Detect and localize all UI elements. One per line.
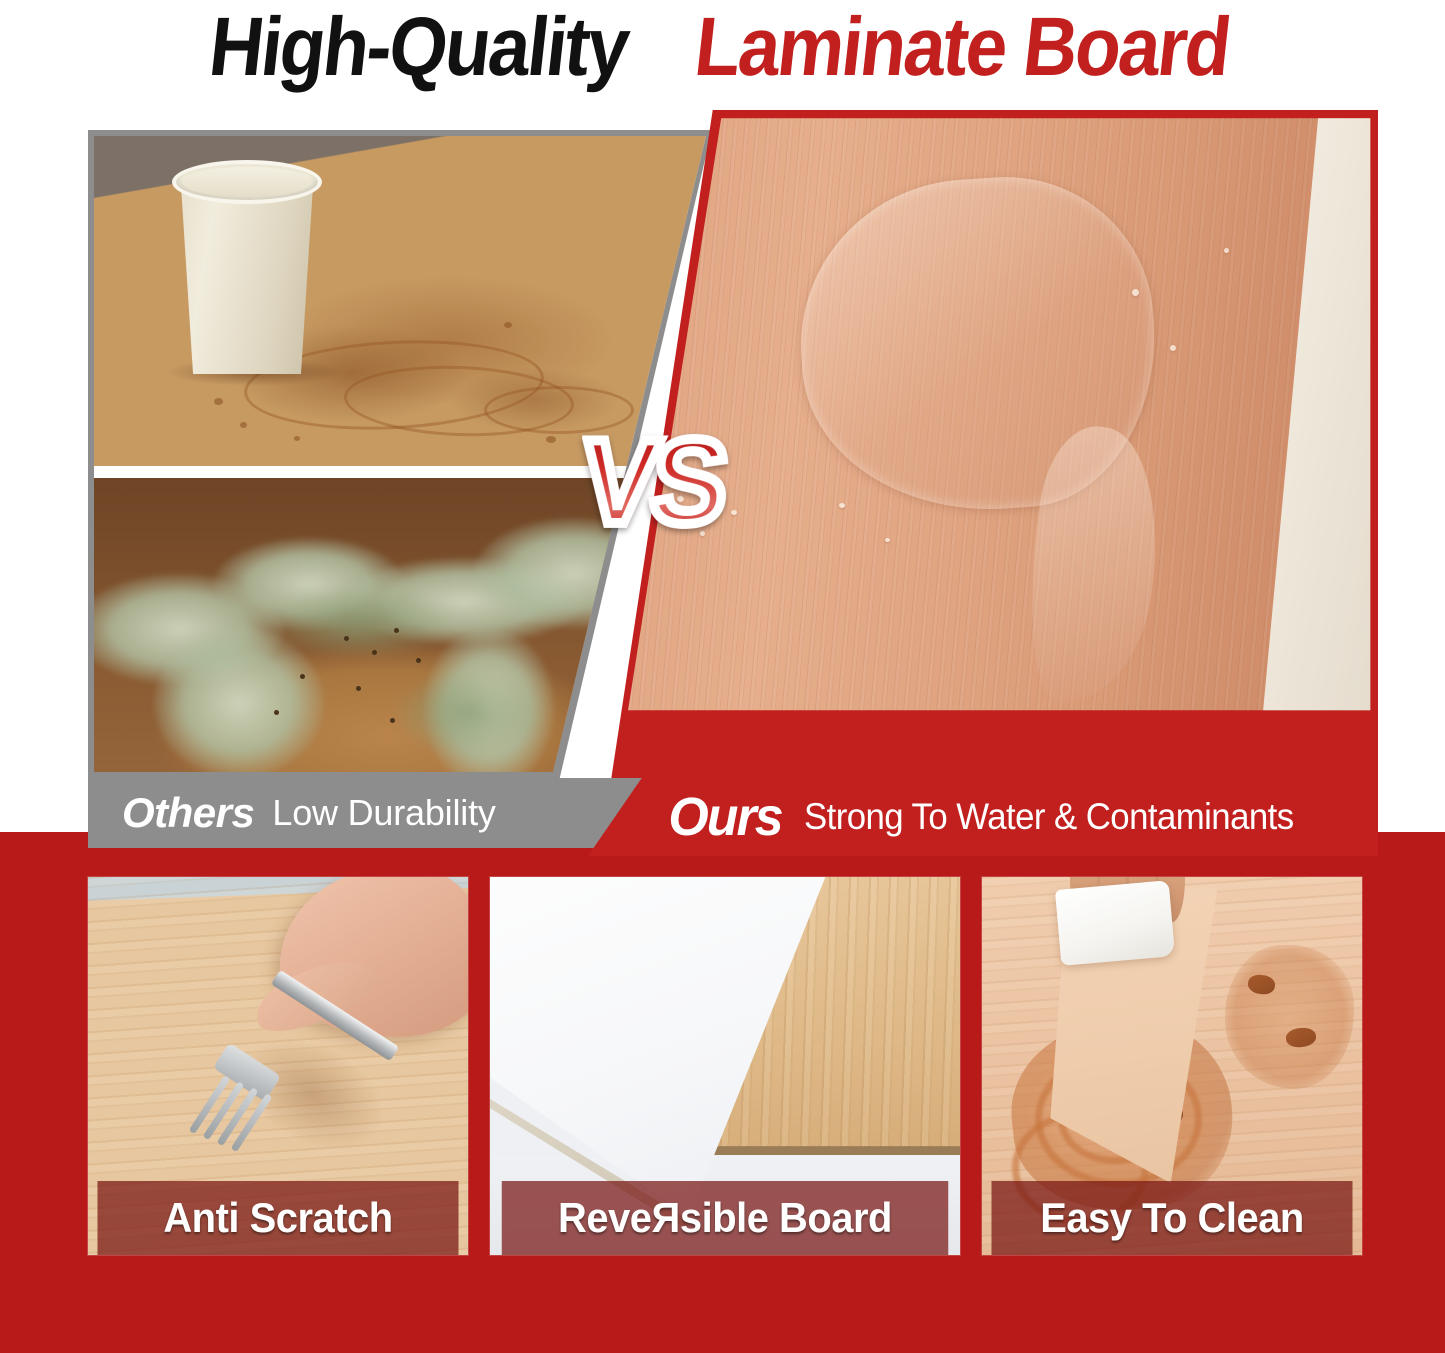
water-drop-icon xyxy=(1224,248,1229,253)
caption-text: Easy To Clean xyxy=(1040,1194,1304,1242)
water-drop-icon xyxy=(885,538,890,542)
caption-reversed-letter: R xyxy=(652,1194,680,1242)
comparison-section: VS Others Low Durability Ours Strong To … xyxy=(0,92,1445,802)
page-title: High-Quality Laminate Board xyxy=(0,0,1445,92)
feature-caption-reversible-board: ReveRsible Board xyxy=(502,1181,949,1255)
title-part-primary: High-Quality xyxy=(205,5,631,88)
others-label-bar: Others Low Durability xyxy=(88,778,644,848)
ours-label-bar: Ours Strong To Water & Contaminants xyxy=(588,778,1378,856)
speck xyxy=(416,658,421,663)
water-drop-icon xyxy=(1132,289,1139,296)
droplet-icon xyxy=(504,322,512,328)
speck xyxy=(372,650,377,655)
droplet-icon xyxy=(294,436,300,441)
caption-text: Anti Scratch xyxy=(163,1194,392,1242)
cup-interior xyxy=(182,167,312,197)
feature-card-easy-to-clean: Easy To Clean xyxy=(982,877,1362,1255)
feature-caption-easy-to-clean: Easy To Clean xyxy=(992,1181,1353,1255)
others-label-sub: Low Durability xyxy=(272,792,495,834)
droplet-icon xyxy=(214,398,223,405)
ours-label-sub: Strong To Water & Contaminants xyxy=(804,796,1294,838)
mold-shadow xyxy=(264,588,454,658)
vs-badge: VS xyxy=(576,422,728,542)
caption-text: Reve xyxy=(558,1194,651,1242)
speck xyxy=(274,710,279,715)
others-label-strong: Others xyxy=(122,789,254,837)
feature-card-anti-scratch: Anti Scratch xyxy=(88,877,468,1255)
title-part-accent: Laminate Board xyxy=(691,5,1233,88)
water-drop-icon xyxy=(1170,345,1176,351)
sauce-stain-right xyxy=(1225,945,1354,1089)
mold-shadow xyxy=(394,668,544,758)
speck xyxy=(300,674,305,679)
caption-text-end: sible Board xyxy=(680,1194,892,1242)
paper-cup-icon xyxy=(176,174,318,374)
ours-label-strong: Ours xyxy=(668,786,781,848)
cleaning-cloth xyxy=(1055,880,1175,965)
speck xyxy=(344,636,349,641)
features-section: Anti Scratch ReveRsible Board xyxy=(0,832,1445,1353)
speck xyxy=(390,718,395,723)
droplet-icon xyxy=(546,436,556,443)
droplet-icon xyxy=(240,422,247,428)
speck xyxy=(356,686,361,691)
speck xyxy=(394,628,399,633)
feature-card-reversible-board: ReveRsible Board xyxy=(490,877,960,1255)
feature-caption-anti-scratch: Anti Scratch xyxy=(98,1181,459,1255)
